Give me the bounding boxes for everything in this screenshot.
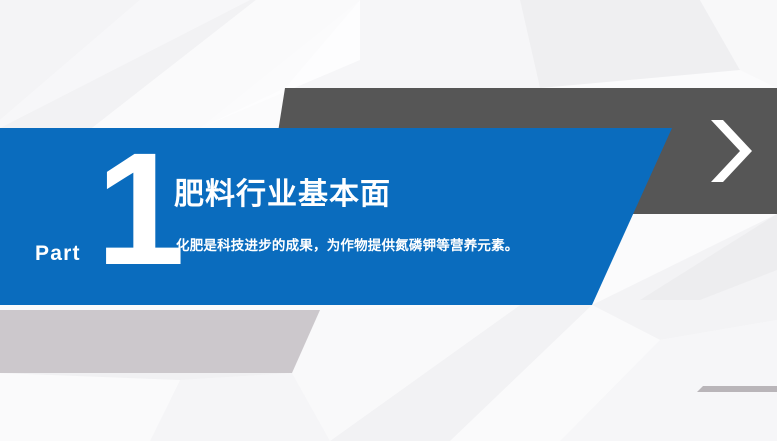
slide-subtitle: 化肥是科技进步的成果，为作物提供氮磷钾等营养元素。	[176, 236, 526, 257]
part-number: 1	[96, 129, 156, 289]
part-label: Part	[35, 243, 81, 264]
page-title: 肥料行业基本面	[174, 178, 391, 212]
presentation-slide: Part 1 肥料行业基本面 化肥是科技进步的成果，为作物提供氮磷钾等营养元素。	[0, 0, 777, 441]
light-gray-band	[0, 310, 320, 373]
bottom-right-sliver	[697, 386, 777, 392]
